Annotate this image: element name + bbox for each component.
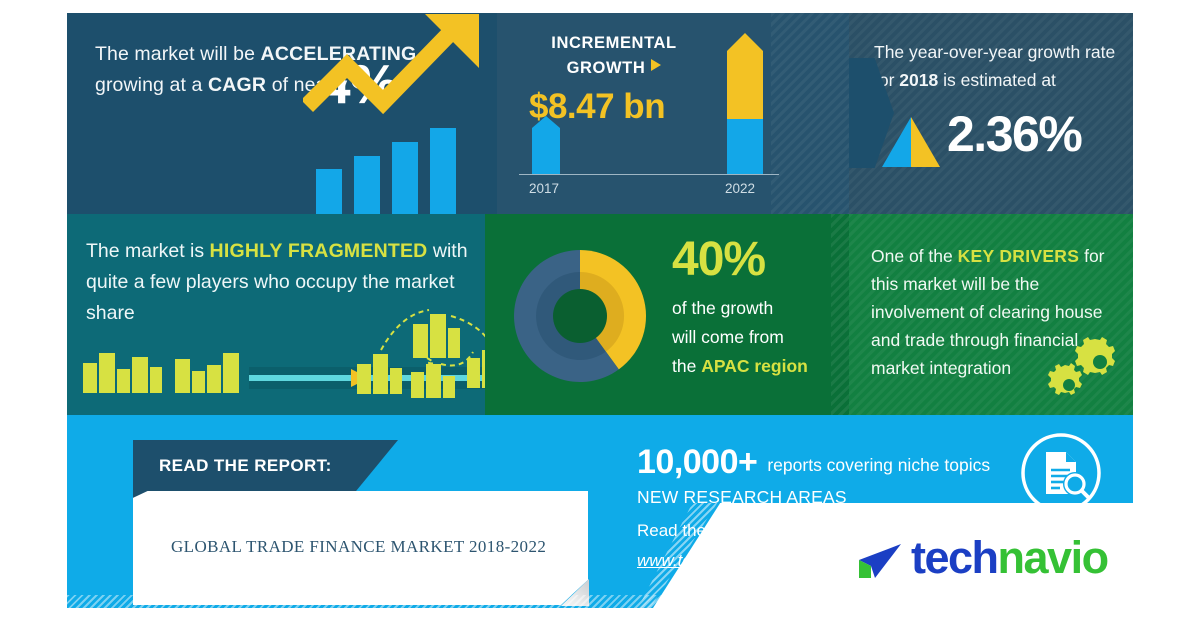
drivers-text-pre: One of the — [871, 246, 958, 266]
infographic-canvas: The market will be ACCELERATING growing … — [0, 0, 1200, 627]
yoy-text-line2-post: is estimated at — [938, 70, 1056, 90]
growth-triangle-icon — [882, 117, 940, 167]
incremental-bar-2017 — [532, 116, 560, 174]
logo-text-tech: tech — [911, 532, 998, 583]
logo-text-navio: navio — [998, 532, 1108, 583]
technavio-logo-mark — [853, 540, 905, 588]
cagr-text-line1-pre: The market will be — [95, 43, 261, 65]
document-search-icon-svg — [1020, 432, 1102, 514]
report-title-card[interactable]: GLOBAL TRADE FINANCE MARKET 2018-2022 — [133, 491, 588, 605]
report-title: GLOBAL TRADE FINANCE MARKET 2018-2022 — [171, 537, 546, 557]
year-label-2022: 2022 — [725, 181, 755, 196]
incremental-label: INCREMENTAL GROWTH — [519, 31, 709, 81]
row-top: The market will be ACCELERATING growing … — [67, 13, 1133, 214]
city-cluster-left2 — [175, 353, 239, 393]
cagr-text-line2-bold: CAGR — [208, 74, 266, 96]
yoy-text: The year-over-year growth rate for 2018 … — [874, 38, 1124, 94]
year-label-2017: 2017 — [529, 181, 559, 196]
cagr-trend-arrow — [303, 13, 497, 160]
green-panel-edge — [485, 214, 492, 415]
incremental-label-line1: INCREMENTAL — [551, 34, 676, 52]
row-middle: The market is HIGHLY FRAGMENTED with qui… — [67, 214, 1133, 415]
incremental-label-line2: GROWTH — [567, 59, 646, 77]
apac-text-line3-bold: APAC region — [701, 356, 808, 376]
technavio-wordmark: technavio — [911, 532, 1108, 584]
drivers-text-bold: KEY DRIVERS — [958, 246, 1080, 266]
cagr-text-line2-pre: growing at a — [95, 74, 208, 96]
technavio-url-link[interactable]: www.technavio.com — [637, 551, 787, 571]
read-them-at-label: Read them at: — [637, 521, 744, 541]
apac-value: 40% — [672, 236, 765, 284]
document-search-icon — [1020, 432, 1102, 514]
read-the-report-banner: READ THE REPORT: — [133, 440, 398, 498]
gears-icon-svg — [1047, 337, 1119, 399]
yoy-text-line2-bold: 2018 — [899, 70, 938, 90]
trend-arrow-svg — [303, 13, 497, 160]
bar-2022-svg — [727, 33, 763, 174]
panel-yoy-growth: The year-over-year growth rate for 2018 … — [849, 13, 1133, 214]
reports-count-row: 10,000+reports covering niche topics — [637, 443, 990, 482]
incremental-axis-line — [519, 174, 779, 175]
fragmented-text-pre: The market is — [86, 240, 210, 262]
panel-apac-share: 40% of the growth will come from the APA… — [490, 214, 849, 415]
apac-text-line2: will come from — [672, 327, 784, 347]
footer-hatch-strip — [67, 595, 1133, 608]
reports-caption: reports covering niche topics — [767, 455, 990, 476]
apac-text-line3-pre: the — [672, 356, 701, 376]
reports-count: 10,000+ — [637, 443, 757, 482]
apac-text-line1: of the growth — [672, 298, 773, 318]
apac-text: of the growth will come from the APAC re… — [672, 294, 847, 381]
yoy-text-line1: The year-over-year growth rate — [874, 42, 1115, 62]
fragmented-text-bold: HIGHLY FRAGMENTED — [210, 240, 428, 262]
play-triangle-icon — [651, 59, 661, 71]
incremental-bar-2022 — [727, 33, 763, 174]
technavio-logo[interactable]: technavio — [853, 536, 1088, 592]
fragmented-network-diagram — [355, 306, 490, 411]
apac-donut-chart — [510, 246, 650, 386]
read-the-report-label: READ THE REPORT: — [159, 456, 332, 476]
panel-incremental-growth: INCREMENTAL GROWTH $8.47 bn 2017 2022 — [497, 13, 849, 214]
new-research-areas: NEW RESEARCH AREAS — [637, 487, 847, 508]
panel-cagr: The market will be ACCELERATING growing … — [67, 13, 497, 214]
bar-2017-svg — [532, 116, 560, 174]
gears-icon — [1047, 337, 1119, 399]
donut-svg — [510, 246, 650, 386]
panel-key-drivers: One of the KEY DRIVERS for this market w… — [849, 214, 1133, 415]
stripe-texture — [771, 13, 849, 214]
yoy-value: 2.36% — [947, 109, 1081, 159]
panel-fragmented: The market is HIGHLY FRAGMENTED with qui… — [67, 214, 490, 415]
donut-hole — [553, 289, 607, 343]
triangle-icon-svg — [882, 117, 940, 167]
city-cluster-left — [83, 353, 162, 393]
